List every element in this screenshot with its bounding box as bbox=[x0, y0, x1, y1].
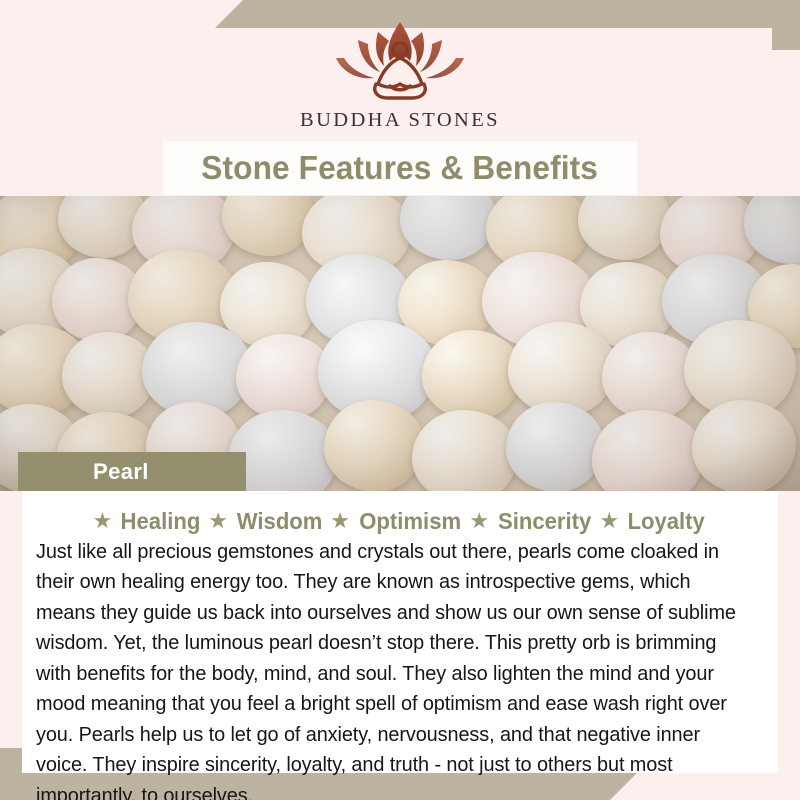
benefit-item: ★ Healing bbox=[93, 510, 204, 534]
benefits-row: ★ Healing ★ Wisdom ★ Optimism ★ Sincerit… bbox=[22, 491, 778, 534]
benefit-item: ★ Optimism bbox=[330, 510, 464, 534]
stone-description-text: Just like all precious gemstones and cry… bbox=[36, 537, 746, 800]
benefit-item: ★ Wisdom bbox=[208, 510, 325, 534]
stone-benefits-poster: BUDDHA STONES bbox=[0, 0, 800, 800]
star-icon: ★ bbox=[330, 510, 350, 532]
brand-name: BUDDHA STONES bbox=[0, 110, 800, 131]
benefit-item: ★ Loyalty bbox=[599, 510, 707, 534]
benefit-label: Wisdom bbox=[237, 510, 323, 534]
brand-logo-block: BUDDHA STONES bbox=[0, 14, 800, 131]
star-icon: ★ bbox=[599, 510, 619, 532]
star-icon: ★ bbox=[469, 510, 489, 532]
stone-name-tag: Pearl bbox=[18, 452, 246, 491]
pearls-hero-photo bbox=[0, 196, 800, 491]
stone-name-label: Pearl bbox=[93, 461, 149, 483]
benefit-label: Loyalty bbox=[628, 510, 705, 534]
benefit-label: Healing bbox=[121, 510, 201, 534]
benefit-label: Sincerity bbox=[498, 510, 591, 534]
title-banner: Stone Features & Benefits bbox=[163, 141, 637, 195]
page-title: Stone Features & Benefits bbox=[202, 149, 599, 187]
benefit-item: ★ Sincerity bbox=[469, 510, 594, 534]
content-card: ★ Healing ★ Wisdom ★ Optimism ★ Sincerit… bbox=[22, 491, 778, 773]
benefit-label: Optimism bbox=[359, 510, 461, 534]
lotus-meditation-figure-icon bbox=[316, 14, 484, 106]
star-icon: ★ bbox=[208, 510, 228, 532]
star-icon: ★ bbox=[93, 510, 113, 532]
